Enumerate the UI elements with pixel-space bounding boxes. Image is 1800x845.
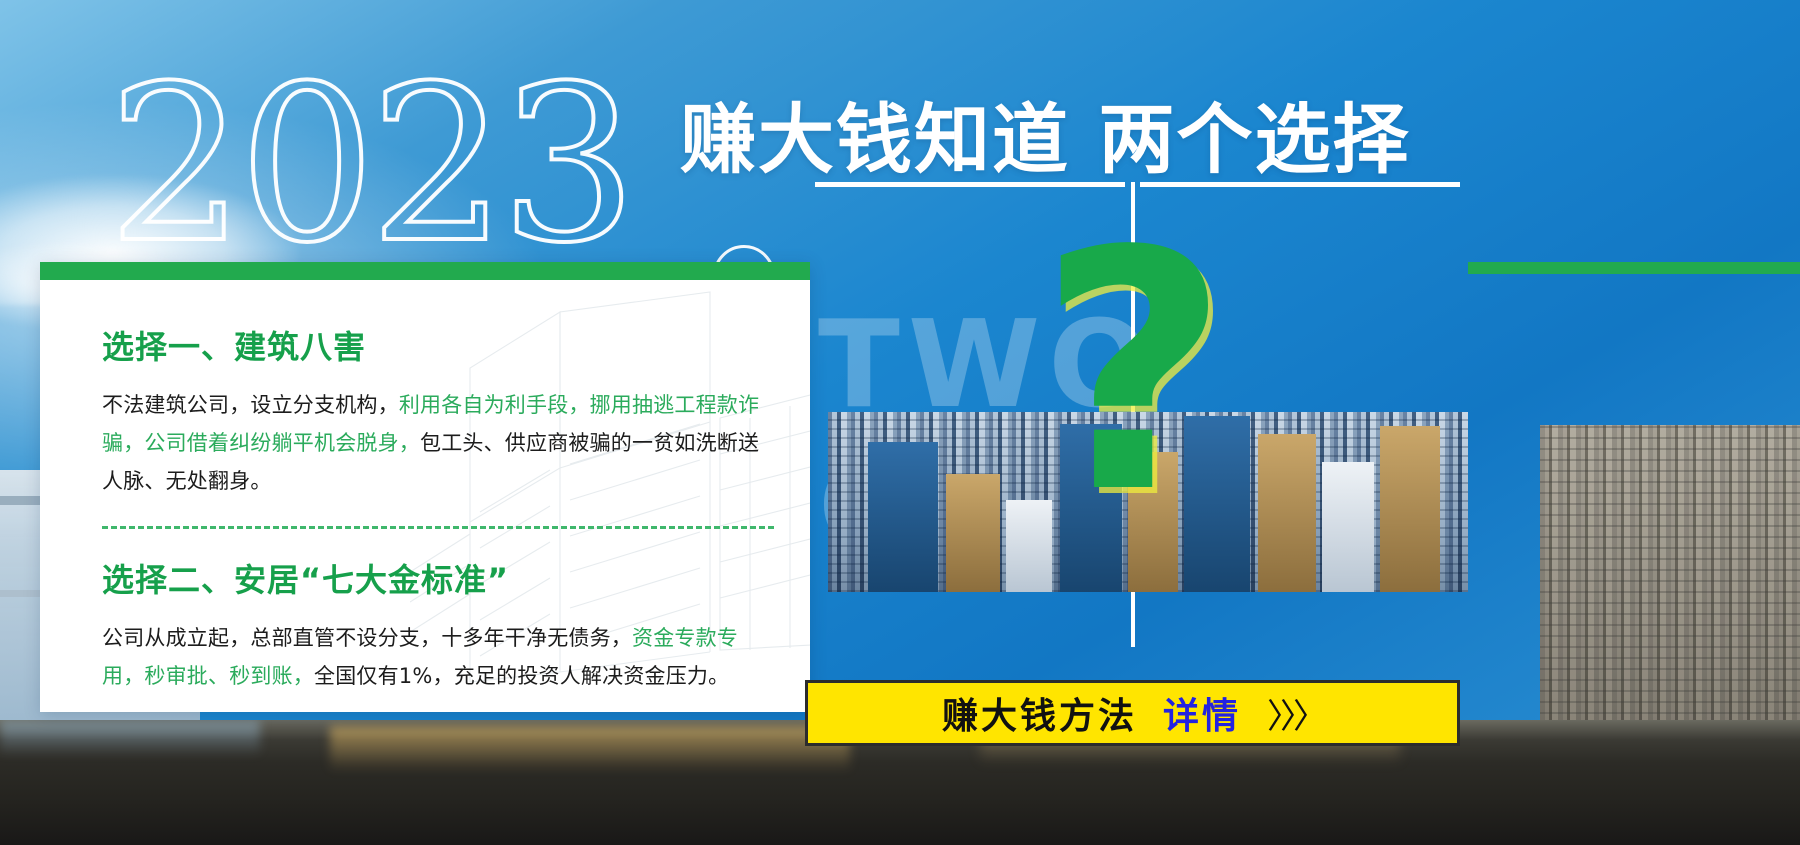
- section-one-text: 不法建筑公司，设立分支机构，利用各自为利手段，挪用抽逃工程款诈骗，公司借着纠纷躺…: [102, 386, 774, 500]
- run-dark: 不法建筑公司，设立分支机构，: [102, 393, 399, 417]
- section-divider: [102, 526, 774, 529]
- section-two-text: 公司从成立起，总部直管不设分支，十多年干净无债务，资金专款专用，秒审批、秒到账，…: [102, 619, 774, 695]
- green-accent-bar: [1468, 262, 1800, 274]
- section-two-title: 选择二、安居“七大金标准”: [102, 555, 774, 601]
- year-graphic: 2023 年: [108, 60, 728, 270]
- run-dark: 全国仅有1%，充足的投资人解决资金压力。: [314, 664, 729, 688]
- cta-main-label: 赚大钱方法: [942, 687, 1137, 739]
- reflection-cool: [0, 720, 260, 760]
- content-card: 选择一、建筑八害 不法建筑公司，设立分支机构，利用各自为利手段，挪用抽逃工程款诈…: [40, 262, 810, 712]
- headline-rule-left: [815, 182, 1125, 187]
- reflection-warm: [330, 726, 850, 778]
- page-title: 赚大钱知道 两个选择: [680, 78, 1410, 188]
- question-mark-icon: ?: [1038, 208, 1229, 538]
- skyline-tower: [868, 442, 938, 592]
- skyline-tower: [946, 474, 1000, 592]
- right-visual-panel: TWOCHOICES ?: [800, 190, 1468, 650]
- banner-stage: 2023 年 赚大钱知道 两个选择 TWOCHOICES ?: [0, 0, 1800, 845]
- section-one-title: 选择一、建筑八害: [102, 322, 774, 368]
- card-body: 选择一、建筑八害 不法建筑公司，设立分支机构，利用各自为利手段，挪用抽逃工程款诈…: [40, 280, 810, 695]
- skyline-tower: [1258, 434, 1316, 592]
- card-top-green-bar: [40, 262, 810, 280]
- headline-rule-right: [1140, 182, 1460, 187]
- chevron-right-icon: 〉〉〉: [1267, 689, 1323, 738]
- skyline-tower: [1322, 462, 1374, 592]
- run-dark: 公司从成立起，总部直管不设分支，十多年干净无债务，: [102, 626, 632, 650]
- cta-button[interactable]: 赚大钱方法 详情 〉〉〉: [805, 680, 1460, 746]
- skyline-tower: [1380, 426, 1440, 592]
- cta-detail-label: 详情: [1163, 687, 1241, 739]
- year-number: 2023: [108, 60, 728, 270]
- right-building-photo: [1540, 425, 1800, 725]
